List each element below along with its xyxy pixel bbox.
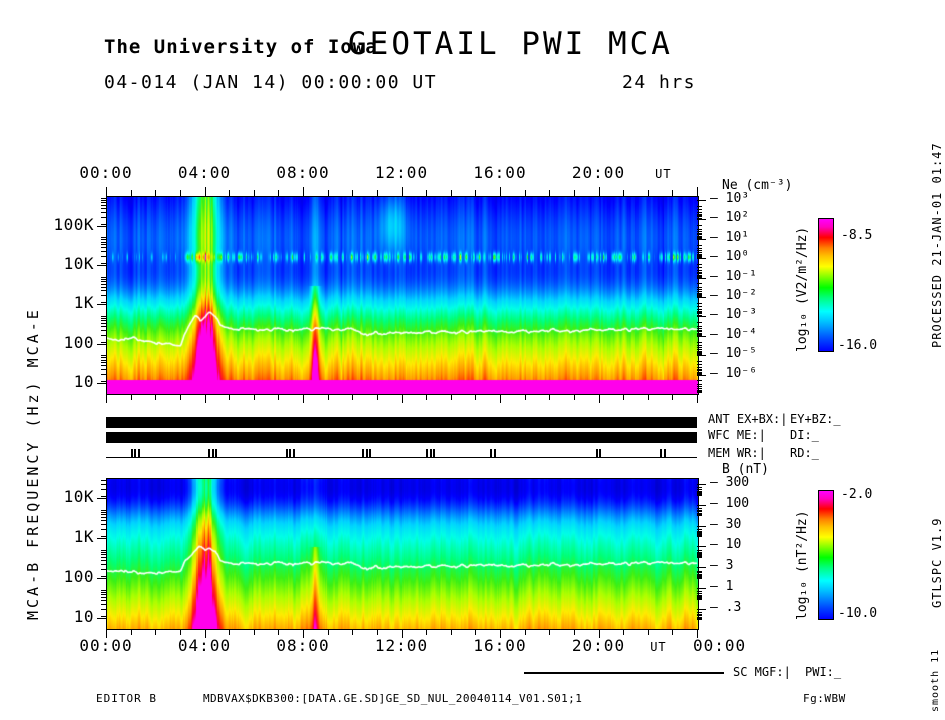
- ne-minor-tick: [697, 287, 702, 288]
- e-panel-bottom-tick: [648, 394, 649, 400]
- bottom-time-label: 08:00: [270, 636, 336, 655]
- e-freq-minor-tick: [101, 244, 106, 245]
- ne-minor-tick: [697, 248, 702, 249]
- b-freq-minor-tick: [101, 590, 106, 591]
- bottom-time-label: 00:00: [73, 636, 139, 655]
- e-freq-tick-label: 100K: [10, 215, 94, 234]
- e-panel-bottom-tick: [303, 394, 304, 403]
- e-freq-minor-tick: [101, 247, 106, 248]
- bottom-axis-tick: [180, 629, 181, 635]
- b-freq-minor-tick: [101, 554, 106, 555]
- processed-timestamp: PROCESSED 21-JAN-01 01:47: [930, 142, 944, 348]
- b-freq-minor-tick: [101, 536, 106, 537]
- mem-tick: [134, 449, 136, 458]
- e-panel-bottom-tick: [451, 394, 452, 400]
- top-time-label: 04:00: [172, 163, 238, 182]
- file-path-label: MDBVAX$DKB300:[DATA.GE.SD]GE_SD_NUL_2004…: [203, 692, 582, 705]
- footer-rule: [524, 672, 724, 674]
- ant-label-secondary: EY+BZ:_: [790, 412, 841, 426]
- b-minor-tick: [697, 612, 702, 613]
- mca-e-colorbar-min: -16.0: [838, 338, 877, 353]
- b-freq-minor-tick: [101, 480, 106, 481]
- top-time-label: 16:00: [467, 163, 533, 182]
- e-freq-minor-tick: [101, 360, 106, 361]
- bottom-axis-tick: [549, 629, 550, 635]
- e-freq-tick-label: 10: [10, 372, 94, 391]
- ne-major-tick: [697, 355, 706, 356]
- e-freq-major-tick: [97, 265, 106, 266]
- top-axis-tick: [599, 187, 600, 196]
- b-freq-minor-tick: [101, 560, 106, 561]
- e-freq-major-tick: [97, 304, 106, 305]
- b-freq-minor-tick: [101, 569, 106, 570]
- ne-minor-tick: [697, 361, 702, 362]
- ne-major-tick: [697, 278, 706, 279]
- ne-axis-title: Ne (cm⁻³): [722, 178, 792, 193]
- page-title-university: The University of Iowa: [104, 36, 378, 58]
- ne-minor-tick: [697, 328, 702, 329]
- b-major-tick: [697, 526, 706, 527]
- e-freq-minor-tick: [101, 263, 106, 264]
- b-freq-minor-tick: [101, 576, 106, 577]
- mem-tick: [138, 449, 140, 458]
- e-freq-minor-tick: [101, 381, 106, 382]
- mca-e-overlay-trace: [107, 197, 698, 394]
- mem-tick: [131, 449, 133, 458]
- bottom-axis-tick: [451, 629, 452, 635]
- e-freq-minor-tick: [101, 239, 106, 240]
- software-version: GTLSPC V1.9: [930, 518, 944, 608]
- e-panel-bottom-tick: [426, 394, 427, 400]
- b-freq-minor-tick: [101, 529, 106, 530]
- e-freq-tick-label: 100: [10, 333, 94, 352]
- e-panel-bottom-tick: [180, 394, 181, 400]
- b-minor-tick: [697, 599, 702, 600]
- top-axis-tick: [402, 187, 403, 196]
- b-minor-tick: [697, 591, 702, 592]
- e-freq-minor-tick: [101, 316, 106, 317]
- bottom-axis-tick: [328, 629, 329, 635]
- e-freq-minor-tick: [101, 284, 106, 285]
- b-freq-minor-tick: [101, 600, 106, 601]
- e-freq-tick-label: 10K: [10, 254, 94, 273]
- ant-label: ANT EX+BX:|: [708, 412, 787, 426]
- b-major-tick: [697, 567, 706, 568]
- e-freq-minor-tick: [101, 290, 106, 291]
- bottom-axis-tick: [475, 629, 476, 635]
- e-panel-bottom-tick: [352, 394, 353, 400]
- mca-e-colorbar-label: log₁₀ (V2/m²/Hz): [795, 227, 810, 352]
- top-axis-tick: [697, 187, 698, 196]
- ne-minor-tick: [697, 209, 702, 210]
- e-panel-bottom-tick: [623, 394, 624, 400]
- mca-e-colorbar: [818, 218, 834, 352]
- bottom-axis-tick: [278, 629, 279, 635]
- b-freq-minor-tick: [101, 512, 106, 513]
- ne-minor-tick: [697, 345, 702, 346]
- b-minor-tick: [697, 508, 702, 509]
- b-freq-minor-tick: [101, 564, 106, 565]
- b-freq-minor-tick: [101, 604, 106, 605]
- ne-tick-label: – 10³: [710, 191, 749, 206]
- b-freq-minor-tick: [101, 550, 106, 551]
- e-freq-minor-tick: [101, 318, 106, 319]
- b-tick-label: – 1: [710, 579, 760, 594]
- top-time-label: 20:00: [566, 163, 632, 182]
- e-freq-minor-tick: [101, 357, 106, 358]
- ne-major-tick: [697, 258, 706, 259]
- mem-tick: [596, 449, 598, 458]
- e-freq-major-tick: [97, 383, 106, 384]
- e-freq-major-tick: [97, 344, 106, 345]
- bottom-time-label: 20:00: [566, 636, 632, 655]
- mca-e-spectrogram: [106, 196, 699, 395]
- b-major-tick: [697, 588, 706, 589]
- editor-label: EDITOR B: [96, 692, 157, 705]
- e-freq-minor-tick: [101, 242, 106, 243]
- bottom-axis-tick: [205, 629, 206, 638]
- bottom-axis-tick: [599, 629, 600, 638]
- top-axis-tick: [500, 187, 501, 196]
- ne-minor-tick: [697, 384, 702, 385]
- bottom-axis-tick: [574, 629, 575, 635]
- ne-minor-tick: [697, 212, 702, 213]
- b-major-tick: [697, 484, 706, 485]
- e-panel-bottom-tick: [500, 394, 501, 403]
- e-freq-minor-tick: [101, 202, 106, 203]
- page-title-main: GEOTAIL PWI MCA: [348, 26, 673, 62]
- b-freq-minor-tick: [101, 489, 106, 490]
- ne-minor-tick: [697, 270, 702, 271]
- e-panel-bottom-tick: [106, 394, 107, 403]
- b-freq-minor-tick: [101, 510, 106, 511]
- bottom-axis-tick: [672, 629, 673, 635]
- ne-minor-tick: [697, 206, 702, 207]
- b-freq-minor-tick: [101, 520, 106, 521]
- bottom-time-label: 12:00: [369, 636, 435, 655]
- e-panel-bottom-tick: [131, 394, 132, 400]
- bottom-axis-tick: [229, 629, 230, 635]
- e-panel-bottom-tick: [377, 394, 378, 400]
- e-freq-minor-tick: [101, 362, 106, 363]
- ne-minor-tick: [697, 309, 702, 310]
- e-freq-minor-tick: [101, 198, 106, 199]
- wfc-status-bar: [106, 432, 697, 443]
- mem-tick: [289, 449, 291, 458]
- mem-label-secondary: RD:_: [790, 446, 819, 460]
- bottom-axis-tick: [131, 629, 132, 635]
- ne-major-tick: [697, 336, 706, 337]
- b-major-tick: [697, 546, 706, 547]
- mca-b-colorbar-label: log₁₀ (nT²/Hz): [795, 510, 810, 620]
- e-freq-minor-tick: [101, 217, 106, 218]
- b-freq-major-tick: [97, 578, 106, 579]
- ne-major-tick: [697, 200, 706, 201]
- ne-tick-label: – 10⁻⁶: [710, 366, 757, 381]
- ne-tick-label: – 10¹: [710, 230, 749, 245]
- e-panel-bottom-tick: [254, 394, 255, 400]
- e-freq-minor-tick: [101, 365, 106, 366]
- mca-e-colorbar-max: -8.5: [841, 228, 872, 243]
- sc-mgf-label: SC MGF:|: [733, 665, 791, 679]
- mem-tick: [599, 449, 601, 458]
- bottom-axis-tick: [697, 629, 698, 638]
- bottom-axis-tick: [254, 629, 255, 635]
- wfc-label: WFC ME:|: [708, 428, 766, 442]
- b-freq-tick-label: 1K: [10, 527, 94, 546]
- e-freq-minor-tick: [101, 355, 106, 356]
- duration-label: 24 hrs: [622, 72, 696, 93]
- bottom-time-unit: UT: [650, 640, 666, 654]
- mca-b-spectrogram: [106, 478, 699, 630]
- bottom-time-end-label: 00:00: [693, 636, 746, 655]
- mem-tick: [366, 449, 368, 458]
- e-panel-bottom-tick: [328, 394, 329, 400]
- b-freq-major-tick: [97, 618, 106, 619]
- mem-status-line: [106, 457, 697, 458]
- bottom-axis-tick: [377, 629, 378, 635]
- e-panel-bottom-tick: [525, 394, 526, 400]
- bottom-axis-tick: [352, 629, 353, 635]
- b-minor-tick: [697, 536, 702, 537]
- e-panel-bottom-tick: [697, 394, 698, 403]
- mem-tick: [433, 449, 435, 458]
- ne-minor-tick: [697, 392, 702, 393]
- e-freq-minor-tick: [101, 295, 106, 296]
- b-major-tick: [697, 505, 706, 506]
- bottom-axis-tick: [623, 629, 624, 635]
- b-tick-label: – 30: [710, 517, 760, 532]
- e-panel-bottom-tick: [402, 394, 403, 403]
- b-minor-tick: [697, 578, 702, 579]
- flag-label: Fg:WBW: [803, 692, 846, 705]
- ne-minor-tick: [697, 245, 702, 246]
- e-panel-bottom-tick: [278, 394, 279, 400]
- e-panel-bottom-tick: [672, 394, 673, 400]
- ne-tick-label: – 10⁻⁴: [710, 327, 757, 342]
- mem-tick: [494, 449, 496, 458]
- b-minor-tick: [697, 495, 702, 496]
- ne-major-tick: [697, 297, 706, 298]
- ne-major-tick: [697, 219, 706, 220]
- mem-tick: [293, 449, 295, 458]
- b-minor-tick: [697, 557, 702, 558]
- ne-minor-tick: [697, 289, 702, 290]
- b-freq-minor-tick: [101, 557, 106, 558]
- e-panel-bottom-tick: [599, 394, 600, 403]
- b-axis-title: B (nT): [722, 462, 769, 477]
- ne-minor-tick: [697, 225, 702, 226]
- b-major-tick: [697, 609, 706, 610]
- ne-tick-label: – 10⁰: [710, 249, 749, 264]
- top-axis-tick: [106, 187, 107, 196]
- e-freq-minor-tick: [101, 277, 106, 278]
- b-freq-minor-tick: [101, 496, 106, 497]
- mem-tick: [212, 449, 214, 458]
- e-freq-minor-tick: [101, 279, 106, 280]
- e-panel-bottom-tick: [574, 394, 575, 400]
- bottom-axis-tick: [303, 629, 304, 638]
- b-freq-minor-tick: [101, 524, 106, 525]
- e-freq-minor-tick: [101, 281, 106, 282]
- e-freq-minor-tick: [101, 374, 106, 375]
- bottom-axis-tick: [648, 629, 649, 635]
- smooth-setting: smooth 11: [930, 649, 941, 712]
- bottom-time-label: 16:00: [467, 636, 533, 655]
- mca-b-colorbar: [818, 490, 834, 620]
- b-tick-label: – 10: [710, 537, 760, 552]
- b-tick-label: – 3: [710, 558, 760, 573]
- ne-minor-tick: [697, 267, 702, 268]
- bottom-axis-tick: [500, 629, 501, 638]
- top-time-label: 08:00: [270, 163, 336, 182]
- bottom-axis-tick: [106, 629, 107, 638]
- top-time-unit: UT: [655, 167, 671, 181]
- ne-minor-tick: [697, 264, 702, 265]
- ant-status-bar: [106, 417, 697, 428]
- e-freq-minor-tick: [101, 323, 106, 324]
- ne-major-tick: [697, 375, 706, 376]
- b-freq-minor-tick: [101, 597, 106, 598]
- b-minor-tick: [697, 487, 702, 488]
- e-freq-minor-tick: [101, 287, 106, 288]
- b-minor-tick: [697, 619, 702, 620]
- ne-minor-tick: [697, 347, 702, 348]
- ne-tick-label: – 10⁻⁵: [710, 346, 757, 361]
- ne-minor-tick: [697, 367, 702, 368]
- ne-minor-tick: [697, 250, 702, 251]
- mca-b-colorbar-min: -10.0: [838, 606, 877, 621]
- b-tick-label: – 300: [710, 475, 760, 490]
- e-freq-minor-tick: [101, 330, 106, 331]
- e-freq-minor-tick: [101, 212, 106, 213]
- mem-tick: [426, 449, 428, 458]
- e-freq-minor-tick: [101, 208, 106, 209]
- bottom-axis-tick: [402, 629, 403, 638]
- ne-tick-label: – 10⁻³: [710, 307, 757, 322]
- top-time-label: 00:00: [73, 163, 139, 182]
- ne-minor-tick: [697, 386, 702, 387]
- ne-minor-tick: [697, 364, 702, 365]
- b-minor-tick: [697, 550, 702, 551]
- top-axis-tick: [205, 187, 206, 196]
- b-freq-minor-tick: [101, 514, 106, 515]
- ne-minor-tick: [697, 342, 702, 343]
- ne-minor-tick: [697, 303, 702, 304]
- mem-tick: [664, 449, 666, 458]
- e-panel-bottom-tick: [475, 394, 476, 400]
- bottom-axis-tick: [426, 629, 427, 635]
- b-tick-label: – .3: [710, 600, 760, 615]
- ne-tick-label: – 10²: [710, 210, 749, 225]
- b-freq-minor-tick: [101, 517, 106, 518]
- e-panel-bottom-tick: [205, 394, 206, 403]
- wfc-label-secondary: DI:_: [790, 428, 819, 442]
- b-freq-minor-tick: [101, 616, 106, 617]
- b-freq-tick-label: 10K: [10, 487, 94, 506]
- e-freq-minor-tick: [101, 237, 106, 238]
- ne-major-tick: [697, 239, 706, 240]
- e-freq-minor-tick: [101, 369, 106, 370]
- b-freq-minor-tick: [101, 552, 106, 553]
- mem-tick: [286, 449, 288, 458]
- b-minor-tick: [697, 529, 702, 530]
- e-freq-minor-tick: [101, 251, 106, 252]
- b-minor-tick: [697, 515, 702, 516]
- bottom-axis-tick: [525, 629, 526, 635]
- mem-tick: [660, 449, 662, 458]
- e-panel-bottom-tick: [155, 394, 156, 400]
- b-freq-major-tick: [97, 498, 106, 499]
- e-panel-bottom-tick: [549, 394, 550, 400]
- e-freq-minor-tick: [101, 335, 106, 336]
- mem-tick: [490, 449, 492, 458]
- e-freq-minor-tick: [101, 320, 106, 321]
- ne-minor-tick: [697, 322, 702, 323]
- e-freq-minor-tick: [101, 302, 106, 303]
- mem-tick: [208, 449, 210, 458]
- b-tick-label: – 100: [710, 496, 760, 511]
- e-freq-major-tick: [97, 226, 106, 227]
- e-panel-bottom-tick: [229, 394, 230, 400]
- e-freq-minor-tick: [101, 205, 106, 206]
- b-freq-minor-tick: [101, 594, 106, 595]
- e-freq-minor-tick: [101, 326, 106, 327]
- date-line: 04-014 (JAN 14) 00:00:00 UT: [104, 72, 437, 93]
- ne-minor-tick: [697, 306, 702, 307]
- top-axis-tick: [303, 187, 304, 196]
- pwi-label: PWI:_: [805, 665, 841, 679]
- ne-minor-tick: [697, 283, 702, 284]
- e-freq-minor-tick: [101, 256, 106, 257]
- b-minor-tick: [697, 571, 702, 572]
- b-freq-tick-label: 100: [10, 567, 94, 586]
- ne-minor-tick: [697, 326, 702, 327]
- mem-label: MEM WR:|: [708, 446, 766, 460]
- b-freq-tick-label: 10: [10, 607, 94, 626]
- mca-b-colorbar-max: -2.0: [841, 487, 872, 502]
- top-time-label: 12:00: [369, 163, 435, 182]
- mca-b-overlay-trace: [107, 479, 698, 629]
- bottom-axis-tick: [155, 629, 156, 635]
- e-freq-minor-tick: [101, 224, 106, 225]
- ne-minor-tick: [697, 229, 702, 230]
- mem-tick: [369, 449, 371, 458]
- ne-minor-tick: [697, 380, 702, 381]
- ne-tick-label: – 10⁻¹: [710, 269, 757, 284]
- b-freq-minor-tick: [101, 484, 106, 485]
- mem-tick: [362, 449, 364, 458]
- e-freq-minor-tick: [101, 342, 106, 343]
- mem-tick: [430, 449, 432, 458]
- b-freq-major-tick: [97, 538, 106, 539]
- bottom-time-label: 04:00: [172, 636, 238, 655]
- e-freq-tick-label: 1K: [10, 293, 94, 312]
- b-freq-minor-tick: [101, 592, 106, 593]
- e-freq-minor-tick: [101, 200, 106, 201]
- ne-major-tick: [697, 316, 706, 317]
- mem-tick: [215, 449, 217, 458]
- ne-tick-label: – 10⁻²: [710, 288, 757, 303]
- ne-minor-tick: [697, 231, 702, 232]
- b-freq-minor-tick: [101, 609, 106, 610]
